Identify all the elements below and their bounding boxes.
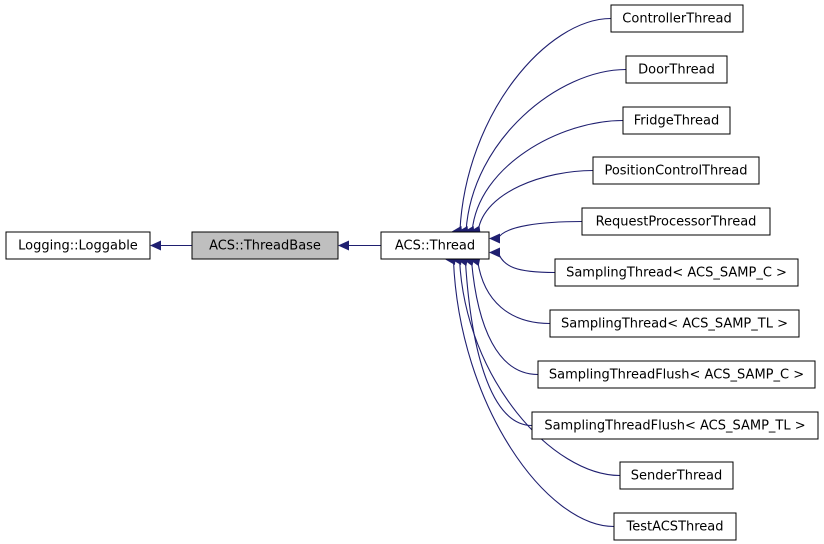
node-label-samplingthread_tl: SamplingThread< ACS_SAMP_TL > — [561, 317, 788, 332]
node-loggable[interactable]: Logging::Loggable — [6, 232, 150, 259]
node-label-samplingthread_c: SamplingThread< ACS_SAMP_C > — [566, 266, 787, 281]
node-samplingthreadflush_tl[interactable]: SamplingThreadFlush< ACS_SAMP_TL > — [532, 412, 818, 439]
node-label-threadbase: ACS::ThreadBase — [209, 239, 321, 254]
node-positioncontrol[interactable]: PositionControlThread — [593, 157, 759, 184]
node-label-samplingthreadflush_c: SamplingThreadFlush< ACS_SAMP_C > — [549, 368, 804, 383]
node-fridge[interactable]: FridgeThread — [623, 107, 730, 134]
node-label-positioncontrol: PositionControlThread — [604, 164, 747, 179]
inheritance-graph-canvas: Logging::LoggableACS::ThreadBaseACS::Thr… — [0, 0, 824, 544]
edge-samplingthreadflush_c-to-thread — [463, 256, 538, 374]
node-label-samplingthreadflush_tl: SamplingThreadFlush< ACS_SAMP_TL > — [544, 419, 805, 434]
edge-thread-to-threadbase — [338, 241, 381, 251]
node-requestprocessor[interactable]: RequestProcessorThread — [582, 208, 770, 235]
node-label-controller: ControllerThread — [622, 12, 731, 27]
node-samplingthread_c[interactable]: SamplingThread< ACS_SAMP_C > — [555, 259, 798, 286]
edge-threadbase-to-loggable — [150, 241, 192, 251]
edge-testacs-to-thread — [444, 255, 614, 526]
node-threadbase[interactable]: ACS::ThreadBase — [192, 232, 338, 259]
node-thread[interactable]: ACS::Thread — [381, 232, 489, 259]
node-samplingthreadflush_c[interactable]: SamplingThreadFlush< ACS_SAMP_C > — [538, 361, 815, 388]
node-samplingthread_tl[interactable]: SamplingThread< ACS_SAMP_TL > — [550, 310, 799, 337]
edge-samplingthreadflush_tl-to-thread — [457, 256, 532, 425]
edge-controller-to-thread — [451, 19, 611, 236]
node-label-testacs: TestACSThread — [625, 520, 723, 535]
node-label-sender: SenderThread — [631, 469, 723, 484]
node-controller[interactable]: ControllerThread — [611, 5, 743, 32]
node-sender[interactable]: SenderThread — [620, 462, 733, 489]
node-testacs[interactable]: TestACSThread — [614, 513, 736, 540]
inheritance-diagram: Logging::LoggableACS::ThreadBaseACS::Thr… — [0, 0, 824, 544]
node-label-loggable: Logging::Loggable — [18, 239, 138, 254]
node-label-requestprocessor: RequestProcessorThread — [596, 215, 757, 230]
node-door[interactable]: DoorThread — [626, 56, 727, 83]
node-layer: Logging::LoggableACS::ThreadBaseACS::Thr… — [6, 5, 818, 540]
node-label-door: DoorThread — [638, 63, 715, 78]
arrowhead-inheritance — [489, 248, 500, 258]
arrowhead-inheritance — [338, 241, 349, 251]
edge-requestprocessor-to-thread — [489, 222, 582, 244]
arrowhead-inheritance — [489, 234, 500, 244]
arrowhead-inheritance — [150, 241, 161, 251]
edge-positioncontrol-to-thread — [469, 171, 593, 236]
edge-samplingthread_c-to-thread — [489, 248, 555, 273]
node-label-fridge: FridgeThread — [634, 114, 719, 129]
node-label-thread: ACS::Thread — [395, 239, 475, 254]
